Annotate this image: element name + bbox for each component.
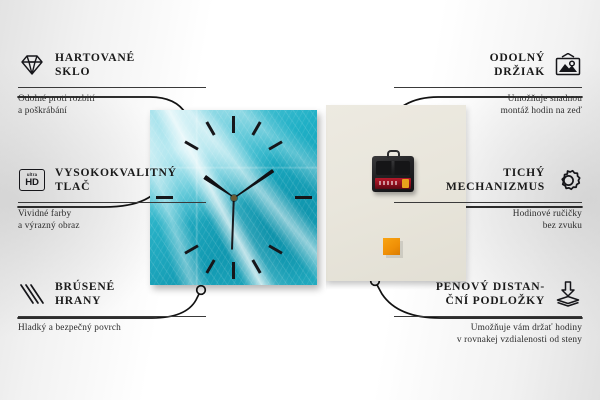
diagonal-lines-icon (18, 280, 46, 308)
feature-description: Hladký a bezpečný povrch (18, 322, 206, 334)
feature-durable-holder: ODOLNÝ DRŽIAK Umožňuje snadnou montáž ho… (394, 48, 582, 118)
feature-description: Odolné proti rozbití a poškrábání (18, 93, 206, 118)
divider (18, 316, 206, 317)
ultra-hd-main-text: HD (25, 178, 38, 188)
feature-description: Umožňuje snadnou montáž hodin na zeď (394, 93, 582, 118)
feature-title: PENOVÝ DISTAN- ČNÍ PODLOŽKY (436, 280, 545, 309)
press-down-layers-icon (554, 280, 582, 308)
divider (394, 316, 582, 317)
feature-title: VYSOKOKVALITNÝ TLAČ (55, 166, 177, 195)
divider (18, 87, 206, 88)
clock-tick (205, 121, 215, 135)
clock-tick (184, 244, 198, 254)
clock-tick (184, 140, 198, 150)
clock-tick (251, 259, 261, 273)
feature-title: TICHÝ MECHANIZMUS (446, 166, 545, 195)
feature-polished-edges: BRÚSENÉ HRANY Hladký a bezpečný povrch (18, 277, 206, 334)
clock-center-cap (231, 195, 237, 201)
clock-tick (268, 140, 282, 150)
feature-description: Hodinové ručičky bez zvuku (394, 208, 582, 233)
hanging-frame-icon (554, 51, 582, 79)
divider (394, 202, 582, 203)
diamond-icon (18, 51, 46, 79)
feature-description: Vividné farby a výrazný obraz (18, 208, 206, 233)
ultra-hd-badge-icon: ultra HD (18, 166, 46, 194)
feature-high-quality-print: ultra HD VYSOKOKVALITNÝ TLAČ Vividné far… (18, 163, 206, 233)
infographic-canvas: HARTOVANÉ SKLO Odolné proti rozbití a po… (0, 0, 600, 400)
foam-spacer-pad (383, 238, 400, 255)
feature-silent-mechanism: TICHÝ MECHANIZMUS Hodinové ručičky bez z… (394, 163, 582, 233)
feature-description: Umožňuje vám držať hodiny v rovnakej vzd… (394, 322, 582, 347)
feature-tempered-glass: HARTOVANÉ SKLO Odolné proti rozbití a po… (18, 48, 206, 118)
feature-title: BRÚSENÉ HRANY (55, 280, 115, 309)
gear-icon (554, 166, 582, 194)
clock-tick (268, 244, 282, 254)
clock-second-hand (231, 197, 234, 249)
clock-tick (251, 121, 261, 135)
clock-tick (295, 196, 312, 199)
feature-title: HARTOVANÉ SKLO (55, 51, 135, 80)
clock-tick (232, 262, 235, 279)
divider (394, 87, 582, 88)
clock-minute-hand (232, 168, 274, 199)
clock-tick (232, 116, 235, 133)
feature-foam-spacers: PENOVÝ DISTAN- ČNÍ PODLOŽKY Umožňuje vám… (394, 277, 582, 347)
movement-hanger (387, 150, 400, 158)
clock-hour-hand (203, 175, 235, 200)
divider (18, 202, 206, 203)
clock-tick (205, 259, 215, 273)
feature-title: ODOLNÝ DRŽIAK (490, 51, 545, 80)
